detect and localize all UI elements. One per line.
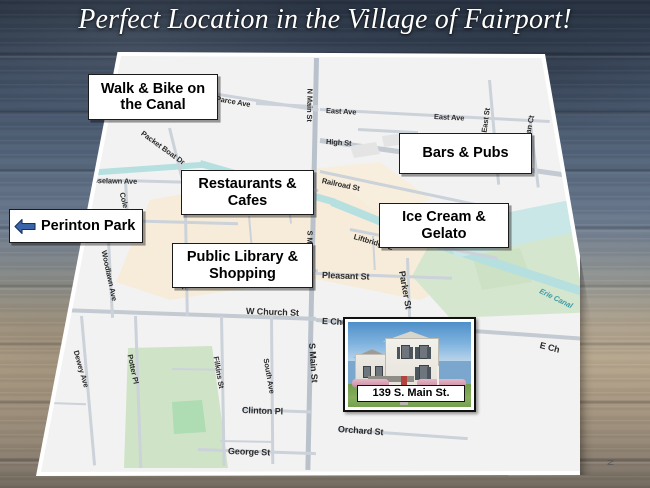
callout-ice-cream-gelato[interactable]: Ice Cream & Gelato (379, 203, 509, 248)
street-label-n-main-st: N Main St (305, 88, 315, 121)
arrow-left-icon (14, 218, 36, 235)
page-title: Perfect Location in the Village of Fairp… (0, 4, 650, 36)
street-label-dewey-ave: Dewey Ave (72, 349, 91, 388)
property-caption: 139 S. Main St. (357, 385, 465, 402)
callout-restaurants-cafes[interactable]: Restaurants & Cafes (181, 170, 314, 215)
street-label-orchard-st: Orchard St (338, 424, 384, 437)
street-label-clinton-pl: Clinton Pl (242, 405, 283, 416)
photo-shutter-2a (415, 347, 419, 360)
callout-walk-bike-canal[interactable]: Walk & Bike on the Canal (88, 74, 218, 120)
street-label-east-st: East St (480, 107, 492, 133)
property-photo-card[interactable]: 139 S. Main St. (343, 317, 476, 412)
map-attribution-mark: N (606, 460, 615, 466)
street-label-woodlawn-ave: Woodlawn Ave (100, 250, 120, 302)
street-label-packet-boat-dr: Packet Boat Dr (139, 129, 186, 167)
photo-shutter-1b (409, 347, 413, 360)
street-label-pleasant-st: Pleasant St (322, 270, 370, 282)
photo-shutter-1a (397, 347, 401, 360)
road-connector-b (220, 440, 272, 443)
street-label-w-church-st: W Church St (246, 306, 299, 318)
street-label-east-ave-2: East Ave (434, 112, 465, 123)
callout-bars-pubs[interactable]: Bars & Pubs (399, 133, 532, 174)
street-label-george-st: George St (228, 446, 270, 457)
callout-public-library-shopping[interactable]: Public Library & Shopping (172, 243, 313, 288)
photo-shutter-3a (415, 367, 419, 380)
property-photo: 139 S. Main St. (348, 322, 471, 407)
street-label-high-st-1: High St (326, 137, 352, 148)
street-label-east-ave-1: East Ave (326, 106, 357, 117)
road-dewey-ave (80, 316, 96, 466)
street-label-e-church-st-far: E Ch (539, 340, 561, 355)
slide-root: Perfect Location in the Village of Fairp… (0, 0, 650, 488)
photo-shutter-3b (427, 367, 431, 380)
callout-perinton-park[interactable]: Perinton Park (9, 209, 143, 243)
road-connector-c (50, 402, 86, 405)
callout-perinton-park-label: Perinton Park (41, 218, 135, 234)
street-label-south-ave: South Ave (262, 358, 277, 395)
street-label-s-main-st-lower: S Main St (307, 343, 320, 383)
photo-shutter-2b (427, 347, 431, 360)
